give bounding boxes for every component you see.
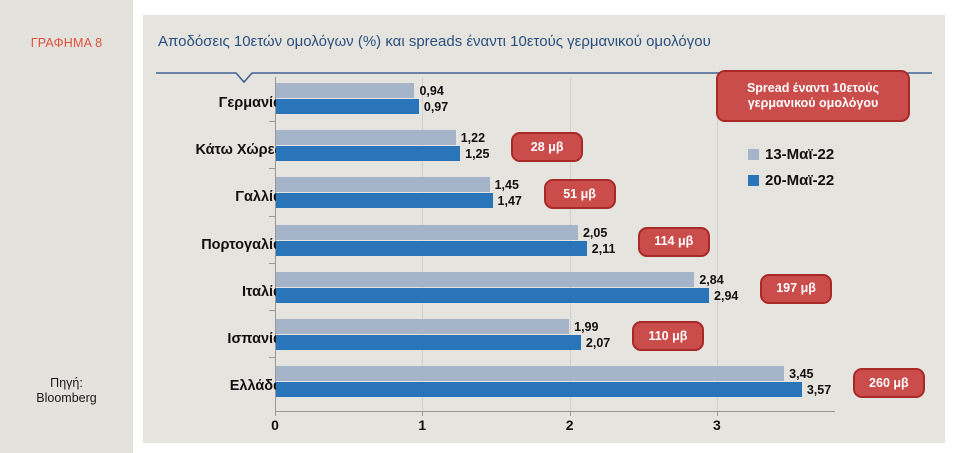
spread-value-callout: 260 μβ	[853, 368, 925, 398]
bar-value-label: 2,05	[583, 226, 607, 240]
legend-swatch	[748, 149, 759, 160]
bar-value-label: 1,47	[498, 194, 522, 208]
bar-curr	[276, 335, 581, 350]
bar-curr	[276, 382, 802, 397]
bar-prev	[276, 130, 456, 145]
category-label: Κάτω Χώρες	[195, 143, 282, 157]
bar-value-label: 1,99	[574, 320, 598, 334]
bar-prev	[276, 272, 694, 287]
legend-item: 20-Μαϊ-22	[748, 167, 834, 193]
y-axis-minor-tick	[269, 310, 275, 311]
bar-value-label: 1,22	[461, 131, 485, 145]
figure-number-label: ΓΡΑΦΗΜΑ 8	[0, 36, 133, 50]
bar-curr	[276, 288, 709, 303]
y-axis-minor-tick	[269, 357, 275, 358]
category-label: Ελλάδα	[230, 379, 282, 393]
x-axis-tick-label: 0	[271, 417, 279, 433]
legend-label: 20-Μαϊ-22	[765, 172, 834, 189]
bar-value-label: 2,07	[586, 336, 610, 350]
gridline	[717, 77, 718, 411]
spread-callout: Spread έναντι 10ετούς γερμανικού ομολόγο…	[716, 70, 910, 122]
y-axis-minor-tick	[269, 263, 275, 264]
spread-value-callout: 28 μβ	[511, 132, 583, 162]
y-axis-minor-tick	[269, 216, 275, 217]
bar-value-label: 1,45	[495, 178, 519, 192]
spread-value-callout: 197 μβ	[760, 274, 832, 304]
legend-swatch	[748, 175, 759, 186]
source-label: Πηγή:	[0, 376, 133, 391]
legend-label: 13-Μαϊ-22	[765, 146, 834, 163]
bar-value-label: 3,45	[789, 367, 813, 381]
bar-value-label: 0,94	[419, 84, 443, 98]
bar-prev	[276, 83, 414, 98]
y-axis-minor-tick	[269, 168, 275, 169]
category-label: Ισπανία	[227, 332, 282, 346]
bar-curr	[276, 193, 493, 208]
chart-legend: 13-Μαϊ-2220-Μαϊ-22	[748, 141, 834, 193]
bar-curr	[276, 146, 460, 161]
bar-value-label: 3,57	[807, 383, 831, 397]
legend-item: 13-Μαϊ-22	[748, 141, 834, 167]
x-axis-tick	[717, 411, 718, 416]
spread-value-callout: 51 μβ	[544, 179, 616, 209]
x-axis-tick-label: 1	[418, 417, 426, 433]
bar-value-label: 1,25	[465, 147, 489, 161]
spread-callout-line1: Spread έναντι 10ετούς	[747, 81, 879, 96]
source-value: Bloomberg	[0, 391, 133, 406]
bar-prev	[276, 319, 569, 334]
x-axis-tick	[275, 411, 276, 416]
category-label: Γαλλία	[235, 190, 282, 204]
x-axis-tick-label: 3	[713, 417, 721, 433]
spread-value-callout: 110 μβ	[632, 321, 704, 351]
bar-curr	[276, 99, 419, 114]
x-axis-line	[275, 411, 835, 412]
chart-panel: Αποδόσεις 10ετών ομολόγων (%) και spread…	[143, 15, 945, 443]
bar-value-label: 2,94	[714, 289, 738, 303]
spread-value-callout: 114 μβ	[638, 227, 710, 257]
category-label: Γερμανία	[219, 96, 282, 110]
bar-value-label: 2,84	[699, 273, 723, 287]
source-note: Πηγή: Bloomberg	[0, 376, 133, 406]
x-axis-tick	[422, 411, 423, 416]
bar-prev	[276, 366, 784, 381]
category-label: Πορτογαλία	[201, 238, 282, 252]
bar-value-label: 2,11	[592, 242, 616, 256]
y-axis-minor-tick	[269, 121, 275, 122]
bar-prev	[276, 177, 490, 192]
sidebar: ΓΡΑΦΗΜΑ 8 Πηγή: Bloomberg	[0, 0, 133, 453]
bar-value-label: 0,97	[424, 100, 448, 114]
spread-callout-line2: γερμανικού ομολόγου	[747, 96, 879, 111]
figure-root: ΓΡΑΦΗΜΑ 8 Πηγή: Bloomberg Αποδόσεις 10ετ…	[0, 0, 957, 453]
x-axis-tick	[570, 411, 571, 416]
bar-prev	[276, 225, 578, 240]
bar-curr	[276, 241, 587, 256]
x-axis-tick-label: 2	[566, 417, 574, 433]
